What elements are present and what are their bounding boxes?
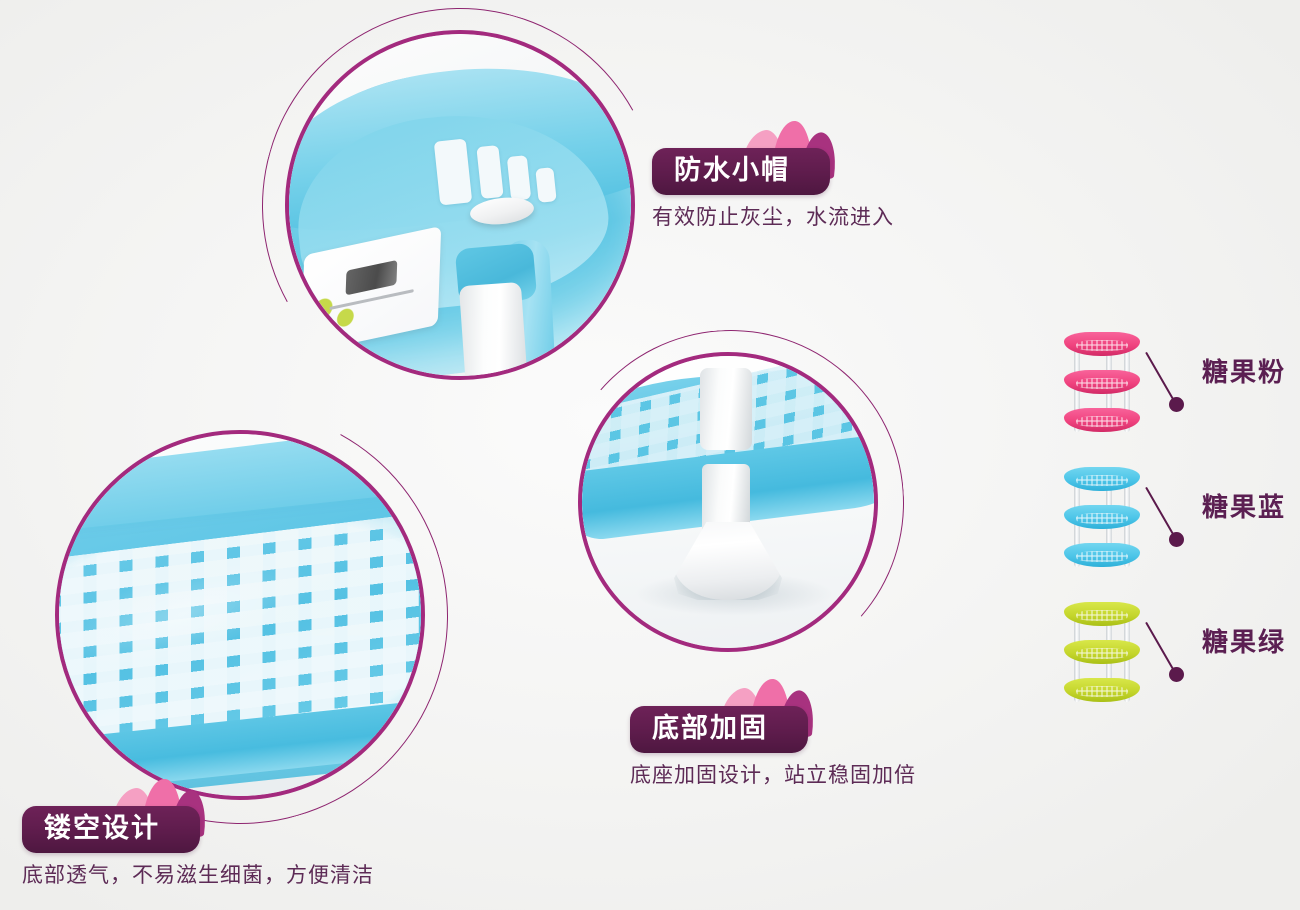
callout-title: 镂空设计	[22, 806, 200, 853]
callout-title: 防水小帽	[652, 148, 830, 195]
tier-mesh	[1076, 513, 1128, 524]
shelf-slot	[434, 139, 473, 206]
tier-mesh	[1076, 378, 1128, 389]
pin-dot	[1169, 397, 1184, 412]
tier-mesh	[1076, 648, 1128, 659]
three-tier-rack-icon	[1062, 602, 1142, 702]
tier-mesh	[1076, 416, 1128, 427]
tier-mesh	[1076, 475, 1128, 486]
photo-circle-hollow-design	[55, 430, 425, 800]
ribbon-banner: 底部加固	[630, 706, 808, 753]
color-option-list: 糖果粉 糖果蓝	[1050, 322, 1300, 727]
callout-waterproof-cap: 防水小帽 有效防止灰尘，水流进入	[652, 148, 894, 231]
card-logo	[346, 260, 398, 296]
tier-mesh	[1076, 610, 1128, 621]
three-tier-rack-icon	[1062, 332, 1142, 432]
infographic-page: 防水小帽 有效防止灰尘，水流进入 底部加固 底座加固设计，站立稳固加倍 镂空设计…	[0, 0, 1300, 910]
tier-mesh	[1076, 686, 1128, 697]
callout-description: 有效防止灰尘，水流进入	[652, 204, 894, 231]
ribbon-banner: 防水小帽	[652, 148, 830, 195]
color-option-row[interactable]: 糖果蓝	[1050, 457, 1300, 592]
white-pole-upper	[700, 368, 752, 450]
card-graphic-green	[305, 283, 364, 351]
color-option-row[interactable]: 糖果粉	[1050, 322, 1300, 457]
tier-mesh	[1076, 551, 1128, 562]
photo-base-reinforcement	[582, 356, 874, 648]
three-tier-rack-icon	[1062, 467, 1142, 567]
white-pole	[459, 282, 529, 376]
photo-circle-base-reinforcement	[578, 352, 878, 652]
callout-hollow-design: 镂空设计 底部透气，不易滋生细菌，方便清洁	[22, 806, 374, 889]
pin-dot	[1169, 532, 1184, 547]
photo-circle-waterproof-cap	[285, 30, 635, 380]
callout-description: 底部透气，不易滋生细菌，方便清洁	[22, 862, 374, 889]
callout-description: 底座加固设计，站立稳固加倍	[630, 762, 916, 789]
color-option-label: 糖果绿	[1202, 622, 1286, 659]
photo-waterproof-cap	[289, 34, 631, 376]
ribbon-banner: 镂空设计	[22, 806, 200, 853]
photo-hollow-design	[59, 434, 421, 796]
color-option-row[interactable]: 糖果绿	[1050, 592, 1300, 727]
tier-mesh	[1076, 340, 1128, 351]
color-option-label: 糖果蓝	[1202, 487, 1286, 524]
callout-base-reinforcement: 底部加固 底座加固设计，站立稳固加倍	[630, 706, 916, 789]
pin-dot	[1169, 667, 1184, 682]
callout-title: 底部加固	[630, 706, 808, 753]
shelf-slot	[535, 167, 556, 203]
color-option-label: 糖果粉	[1202, 352, 1286, 389]
